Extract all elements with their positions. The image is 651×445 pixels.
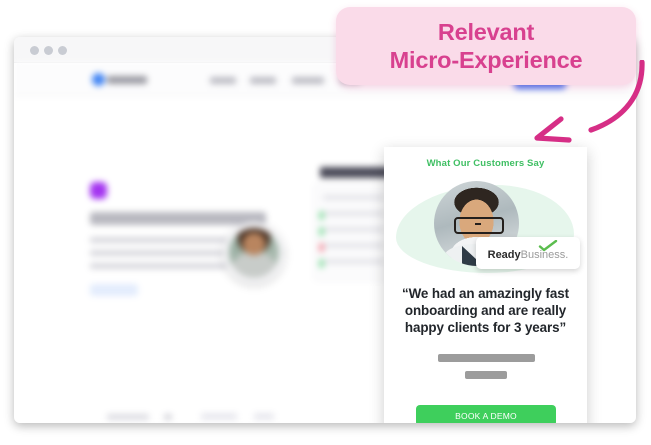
- side-panel-row: [323, 259, 385, 264]
- card-title: What Our Customers Say: [384, 158, 587, 169]
- callout-line-1: Relevant: [390, 18, 583, 46]
- browser-window: What Our Customers Say ReadyBusiness. “W…: [14, 37, 636, 423]
- brand-logo-icon: [92, 73, 105, 86]
- ready-business-badge: ReadyBusiness.: [476, 237, 580, 269]
- side-panel-row: [323, 243, 385, 248]
- table-header-cell: [201, 413, 237, 420]
- side-panel-row: [323, 195, 385, 200]
- nav-item-2[interactable]: [250, 77, 276, 84]
- hero-avatar-ring: [223, 222, 285, 284]
- attribution-placeholder-bar: [438, 354, 535, 362]
- attribution-placeholder-bar: [465, 371, 507, 379]
- list-item[interactable]: [107, 414, 149, 420]
- quote-line-1: “We had an amazingly fast: [392, 285, 579, 302]
- callout-badge: Relevant Micro-Experience: [336, 7, 636, 85]
- list-item-count: [164, 414, 172, 420]
- table-header-cell: [254, 413, 274, 420]
- green-check-icon: [538, 240, 558, 252]
- nav-item-1[interactable]: [210, 77, 236, 84]
- nav-item-3[interactable]: [292, 77, 324, 84]
- brand-logo-text: [107, 76, 147, 84]
- side-panel-title-bar: [320, 167, 394, 178]
- badge-bold-text: Ready: [488, 249, 521, 261]
- callout-line-2: Micro-Experience: [390, 46, 583, 74]
- book-a-demo-button[interactable]: BOOK A DEMO: [416, 405, 556, 423]
- quote-line-3: happy clients for 3 years”: [392, 319, 579, 336]
- side-panel-row: [323, 227, 385, 232]
- maximize-dot[interactable]: [58, 46, 67, 55]
- close-dot[interactable]: [30, 46, 39, 55]
- quote-line-2: onboarding and are really: [392, 302, 579, 319]
- side-panel-row: [323, 211, 385, 216]
- hero-purple-square-icon: [90, 182, 107, 199]
- hero-cta-button[interactable]: [90, 284, 138, 296]
- testimonial-quote: “We had an amazingly fast onboarding and…: [392, 285, 579, 336]
- glasses-icon: [454, 217, 504, 234]
- testimonial-popup-card: What Our Customers Say ReadyBusiness. “W…: [384, 147, 587, 423]
- hero-heading: [90, 212, 266, 225]
- hero-avatar: [229, 228, 279, 278]
- minimize-dot[interactable]: [44, 46, 53, 55]
